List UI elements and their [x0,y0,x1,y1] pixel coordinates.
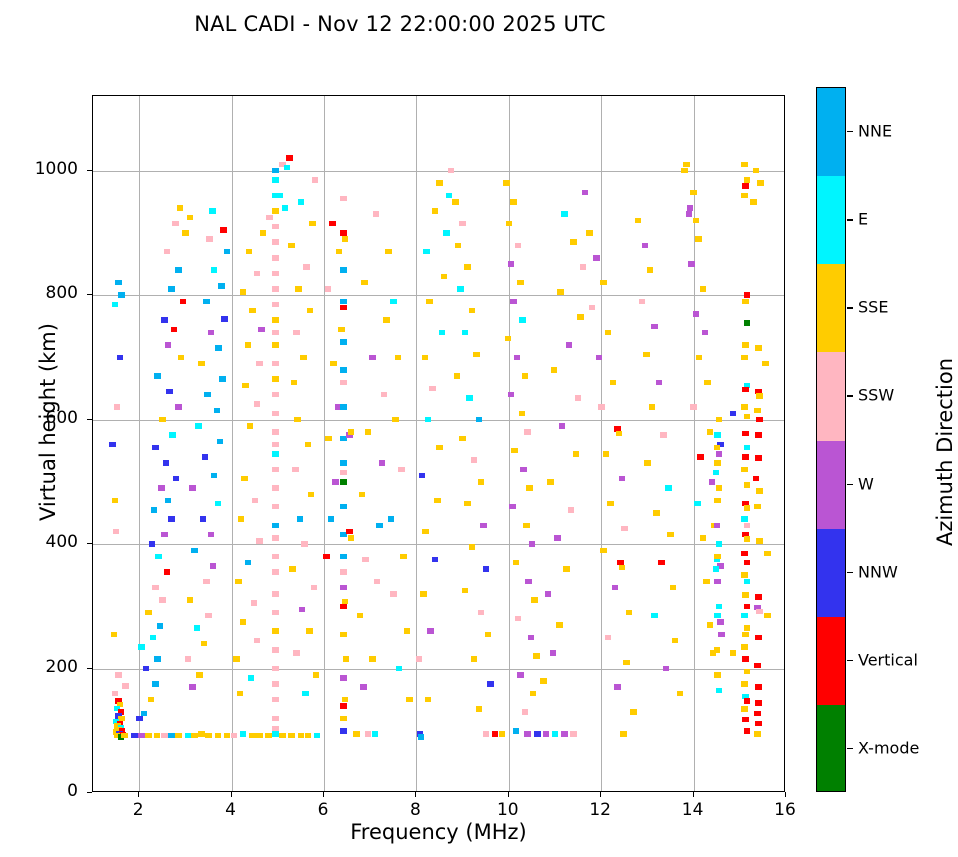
data-point [688,261,695,267]
y-tick-mark [87,170,92,171]
data-point [742,454,749,460]
data-point [517,672,524,678]
data-point [744,604,751,610]
data-point [298,733,305,739]
data-point [150,635,157,641]
data-point [248,675,255,681]
data-point [374,579,381,585]
colorbar-tick-mark [847,484,853,485]
data-point [325,436,332,442]
gridline-horizontal [93,669,784,670]
data-point [515,616,522,622]
data-point [206,236,213,242]
data-point [426,299,433,305]
data-point [556,622,563,628]
data-point [753,476,760,482]
data-point [305,733,312,739]
data-point [299,607,306,613]
plot-area[interactable] [92,95,785,792]
data-point [272,224,279,230]
data-point [639,299,646,305]
data-point [362,557,369,563]
data-point [531,597,538,603]
x-tick-mark [508,792,509,797]
data-point [596,355,603,361]
data-point [340,675,347,681]
data-point [593,255,600,261]
data-point [525,579,532,585]
data-point [348,535,355,541]
x-tick-label: 14 [663,800,723,820]
data-point [741,572,748,578]
data-point [168,516,175,522]
data-point [177,205,184,211]
data-point [642,243,649,249]
data-point [272,442,279,448]
data-point [215,501,222,507]
data-point [483,731,490,737]
data-point [175,404,182,410]
data-point [707,429,714,435]
data-point [136,716,143,722]
data-point [293,650,300,656]
data-point [340,470,347,476]
data-point [600,548,607,554]
data-point [744,482,751,488]
data-point [237,691,244,697]
data-point [603,451,610,457]
colorbar-tick-mark [847,660,853,661]
data-point [559,423,566,429]
colorbar-tick-mark [847,748,853,749]
data-point [714,460,721,466]
data-point [173,476,180,482]
data-point [145,610,152,616]
data-point [714,579,721,585]
colorbar-label-nne: NNE [858,122,892,141]
data-point [476,706,483,712]
x-tick-mark [600,792,601,797]
data-point [218,283,225,289]
data-point [254,401,261,407]
y-tick-mark [87,668,92,669]
data-point [117,355,124,361]
data-point [194,625,201,631]
data-point [561,731,568,737]
x-tick-label: 8 [385,800,445,820]
data-point [256,361,263,367]
data-point [432,557,439,563]
data-point [112,691,119,697]
colorbar-segment-e[interactable] [817,176,845,264]
data-point [476,417,483,423]
data-point [690,190,697,196]
data-point [448,168,455,174]
data-point [707,622,714,628]
data-point [240,289,247,295]
data-point [138,644,145,650]
data-point [552,731,559,737]
data-point [510,299,517,305]
data-point [202,454,209,460]
colorbar-segment-sse[interactable] [817,264,845,352]
data-point [211,473,218,479]
data-point [369,656,376,662]
gridline-vertical [324,96,325,791]
data-point [651,324,658,330]
data-point [161,317,168,323]
colorbar-label-sse: SSE [858,298,888,317]
colorbar-segment-nnw[interactable] [817,529,845,617]
data-point [519,411,526,417]
data-point [328,516,335,522]
x-tick-label: 6 [293,800,353,820]
data-point [716,417,723,423]
colorbar-label-w: W [858,474,874,493]
data-point [189,684,196,690]
data-point [340,305,347,311]
gridline-vertical [232,96,233,791]
data-point [219,376,226,382]
data-point [630,709,637,715]
data-point [272,177,279,183]
data-point [520,467,527,473]
x-tick-label: 10 [478,800,538,820]
data-point [249,308,256,314]
data-point [651,613,658,619]
gridline-vertical [416,96,417,791]
data-point [272,666,279,672]
data-point [754,504,761,510]
data-point [115,672,122,678]
data-point [693,311,700,317]
data-point [716,604,723,610]
gridline-vertical [601,96,602,791]
data-point [340,728,347,734]
x-tick-mark [415,792,416,797]
data-point [570,731,577,737]
data-point [626,610,633,616]
data-point [191,733,198,739]
colorbar-tick-mark [847,219,853,220]
data-point [589,305,596,311]
colorbar-tick-mark [847,131,853,132]
data-point [208,532,215,538]
data-point [284,165,291,171]
data-point [755,721,762,727]
data-point [677,691,684,697]
data-point [309,221,316,227]
data-point [660,432,667,438]
colorbar-segment-x-mode[interactable] [817,705,845,792]
data-point [742,592,749,598]
data-point [742,632,749,638]
data-point [340,380,347,386]
data-point [716,485,723,491]
y-tick-mark [87,294,92,295]
data-point [353,731,360,737]
data-point [524,429,531,435]
data-point [404,628,411,634]
colorbar-label-e: E [858,210,868,229]
data-point [570,239,577,245]
y-tick-mark [87,543,92,544]
data-point [291,380,298,386]
data-point [619,565,626,571]
data-point [683,162,690,168]
data-point [429,386,436,392]
data-point [185,733,192,739]
data-point [681,168,688,174]
x-tick-mark [138,792,139,797]
x-tick-mark [785,792,786,797]
data-point [272,302,279,308]
data-point [272,239,279,245]
data-point [511,448,518,454]
data-point [422,529,429,535]
data-point [118,292,125,298]
data-point [298,199,305,205]
colorbar-label-nnw: NNW [858,562,898,581]
data-point [265,733,272,739]
data-point [621,526,628,532]
data-point [272,208,279,214]
data-point [312,177,319,183]
data-point [485,632,492,638]
colorbar-segment-ssw[interactable] [817,352,845,440]
x-tick-label: 12 [570,800,630,820]
data-point [464,264,471,270]
data-point [503,180,510,186]
data-point [459,436,466,442]
data-point [342,697,349,703]
data-point [172,221,179,227]
data-point [575,395,582,401]
data-point [342,599,349,605]
data-point [154,733,161,739]
data-point [455,243,462,249]
data-point [159,417,166,423]
data-point [515,243,522,249]
data-point [551,367,558,373]
data-point [272,554,279,560]
data-point [744,579,751,585]
data-point [742,656,749,662]
data-point [340,604,347,610]
data-point [210,563,217,569]
data-point [464,501,471,507]
data-point [340,196,347,202]
data-point [704,380,711,386]
data-point [425,417,432,423]
gridline-horizontal [93,295,784,296]
data-point [605,635,612,641]
data-point [208,330,215,336]
data-point [717,619,724,625]
data-point [242,383,249,389]
data-point [534,731,541,737]
data-point [272,376,279,382]
data-point [478,610,485,616]
data-point [191,548,198,554]
data-point [756,538,763,544]
data-point [340,703,347,709]
data-point [600,280,607,286]
data-point [670,585,677,591]
data-point [379,460,386,466]
data-point [114,404,121,410]
data-point [300,355,307,361]
data-point [155,554,162,560]
data-point [543,731,550,737]
data-point [251,600,258,606]
data-point [209,208,216,214]
data-point [340,299,347,305]
data-point [586,230,593,236]
data-point [420,591,427,597]
data-point [697,454,704,460]
data-point [161,733,168,739]
data-point [256,538,263,544]
y-tick-label: 200 [8,657,78,677]
data-point [313,672,320,678]
data-point [614,684,621,690]
data-point [204,392,211,398]
data-point [272,451,279,457]
data-point [329,221,336,227]
data-point [422,355,429,361]
data-point [742,342,749,348]
data-point [187,215,194,221]
data-point [653,510,660,516]
data-point [256,733,263,739]
data-point [289,566,296,572]
data-point [376,523,383,529]
data-point [492,731,499,737]
data-point [462,330,469,336]
data-point [272,429,279,435]
data-point [272,342,279,348]
data-point [755,594,762,600]
colorbar[interactable] [816,87,846,792]
data-point [240,619,247,625]
data-point [755,700,762,706]
data-point [656,380,663,386]
data-point [487,681,494,687]
data-point [672,638,679,644]
colorbar-tick-mark [847,307,853,308]
data-point [635,218,642,224]
ionogram-figure: NAL CADI - Nov 12 22:00:00 2025 UTC 2468… [0,0,958,857]
x-tick-label: 4 [201,800,261,820]
data-point [742,717,749,723]
data-point [658,560,665,566]
data-point [425,697,432,703]
data-point [246,249,253,255]
data-point [730,650,737,656]
data-point [158,485,165,491]
data-point [702,330,709,336]
data-point [182,230,189,236]
data-point [473,352,480,358]
data-point [314,733,321,739]
data-point [340,632,347,638]
data-point [741,193,748,199]
colorbar-segment-vertical[interactable] [817,617,845,705]
data-point [272,317,279,323]
data-point [742,387,749,393]
data-point [744,414,751,420]
data-point [164,249,171,255]
data-point [612,585,619,591]
data-point [554,535,561,541]
data-point [573,451,580,457]
data-point [557,289,564,295]
data-point [714,672,721,678]
data-point [700,535,707,541]
data-point [510,199,517,205]
x-tick-label: 16 [755,800,815,820]
data-point [359,492,366,498]
y-tick-mark [87,419,92,420]
data-point [340,716,347,722]
data-point [288,243,295,249]
data-point [533,653,540,659]
data-point [607,501,614,507]
data-point [187,597,194,603]
data-point [196,672,203,678]
data-point [547,479,554,485]
data-point [340,569,347,575]
data-point [623,660,630,666]
data-point [756,417,763,423]
data-point [272,697,279,703]
data-point [272,681,279,687]
colorbar-tick-mark [847,572,853,573]
data-point [695,236,702,242]
data-point [272,716,279,722]
data-point [340,460,347,466]
data-point [505,336,512,342]
data-point [372,731,379,737]
colorbar-segment-w[interactable] [817,441,845,529]
data-point [166,389,173,395]
data-point [714,432,721,438]
data-point [381,392,388,398]
data-point [302,691,309,697]
data-point [249,733,256,739]
data-point [522,373,529,379]
data-point [143,666,150,672]
data-point [524,731,531,737]
colorbar-segment-nne[interactable] [817,88,845,176]
data-point [561,211,568,217]
colorbar-label-vertical: Vertical [858,650,918,669]
data-point [165,342,172,348]
data-point [418,734,425,740]
data-point [462,588,469,594]
data-point [459,221,466,227]
data-point [741,644,748,650]
data-point [522,709,529,715]
data-point [742,431,749,437]
data-point [744,320,751,326]
data-point [392,417,399,423]
y-axis-label: Virtual height (km) [36,272,60,572]
data-point [744,728,751,734]
data-point [730,411,737,417]
data-point [716,451,723,457]
